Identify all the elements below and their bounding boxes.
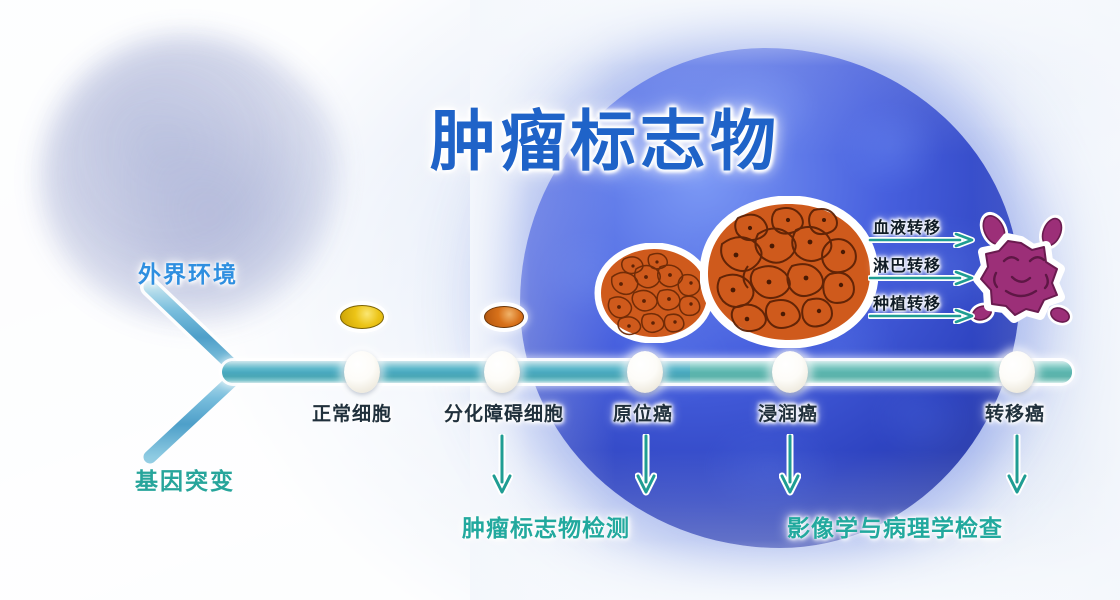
tumor-marker-infographic: 肿瘤标志物 外界环境 基因突变 bbox=[0, 0, 1120, 600]
timeline-node-metastatic-carcinoma[interactable] bbox=[999, 351, 1035, 393]
timeline-node-invasive-carcinoma[interactable] bbox=[772, 351, 808, 393]
meta-arrow-blood-icon bbox=[868, 232, 986, 248]
timeline-node-carcinoma-in-situ[interactable] bbox=[627, 351, 663, 393]
timeline-node-normal-cell[interactable] bbox=[344, 351, 380, 393]
label-gene-mutation: 基因突变 bbox=[135, 462, 235, 496]
detection-label-tumor-marker: 肿瘤标志物检测 bbox=[462, 509, 630, 543]
page-title: 肿瘤标志物 bbox=[430, 88, 780, 184]
stage-label-normal-cell: 正常细胞 bbox=[312, 399, 392, 426]
timeline-node-dysplastic-cell[interactable] bbox=[484, 351, 520, 393]
stage-label-dysplastic-cell: 分化障碍细胞 bbox=[444, 399, 564, 426]
invasive-carcinoma-mass bbox=[700, 196, 878, 348]
detection-label-imaging-pathology: 影像学与病理学检查 bbox=[787, 509, 1003, 543]
down-arrow-metastatic-icon bbox=[1006, 434, 1028, 498]
stage-label-invasive-carcinoma: 浸润癌 bbox=[758, 399, 818, 426]
down-arrow-in-situ-icon bbox=[635, 434, 657, 498]
label-external-environment: 外界环境 bbox=[138, 255, 238, 289]
stage-label-metastatic-carcinoma: 转移癌 bbox=[985, 399, 1045, 426]
meta-arrow-lymph-icon bbox=[868, 270, 986, 286]
meta-arrow-implantation-icon bbox=[868, 308, 986, 324]
carcinoma-in-situ-mass bbox=[594, 243, 714, 343]
down-arrow-dysplastic-icon bbox=[491, 434, 513, 498]
stage-label-carcinoma-in-situ: 原位癌 bbox=[613, 399, 673, 426]
dysplastic-cell-illustration bbox=[484, 306, 524, 328]
normal-cell-illustration bbox=[340, 305, 384, 329]
down-arrow-invasive-icon bbox=[779, 434, 801, 498]
